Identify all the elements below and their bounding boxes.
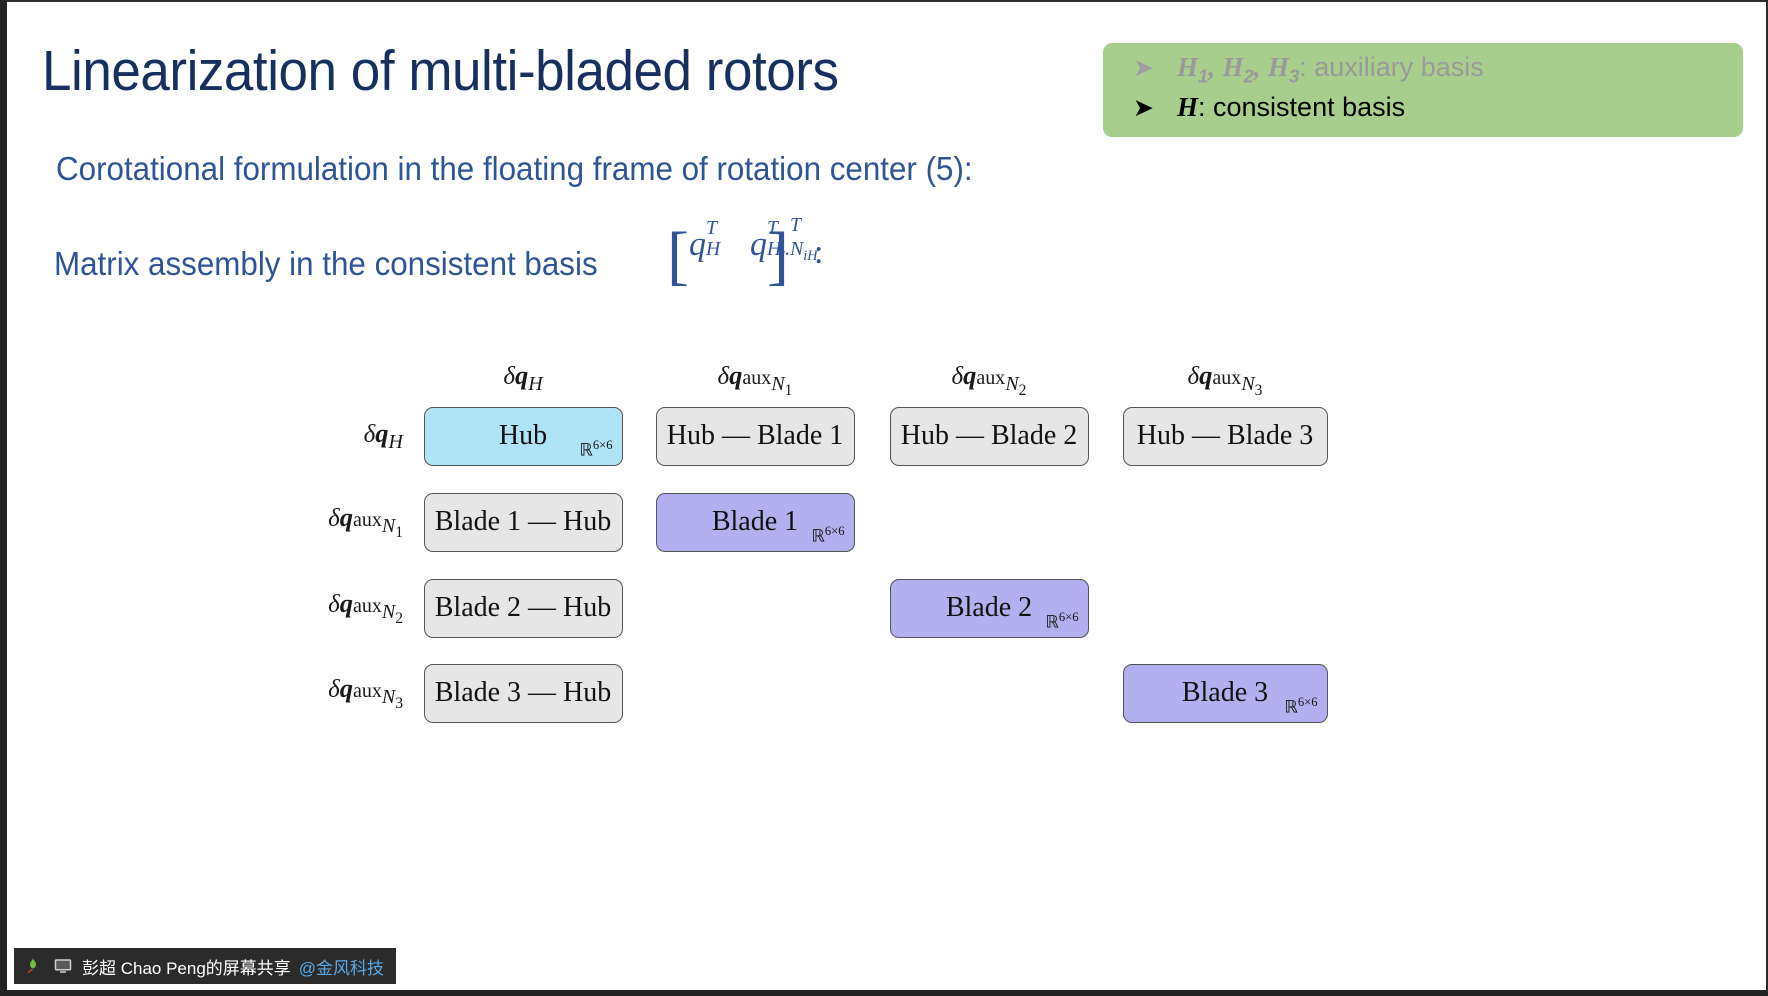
matrix-cell-r1-c1: Blade 1ℝ6×6 bbox=[656, 493, 855, 552]
matrix-cell-label: Blade 3 — Hub bbox=[435, 677, 612, 709]
matrix-column-header-1: δqauxN1 bbox=[718, 360, 793, 400]
matrix-row-header-3: δqauxN3 bbox=[328, 673, 403, 713]
matrix-column-header-3: δqauxN3 bbox=[1188, 360, 1263, 400]
matrix-row-header-1: δqauxN1 bbox=[328, 502, 403, 542]
matrix-cell-r3-c3: Blade 3ℝ6×6 bbox=[1123, 664, 1328, 723]
presentation-slide: Linearization of multi-bladed rotors ➤ H… bbox=[7, 2, 1766, 990]
matrix-cell-dimension-tag: ℝ6×6 bbox=[1284, 695, 1317, 718]
matrix-column-header-0: δqH bbox=[503, 360, 542, 396]
share-handle-label: @金风科技 bbox=[299, 954, 384, 979]
matrix-cell-r0-c2: Hub — Blade 2 bbox=[890, 407, 1089, 466]
matrix-cell-dimension-tag: ℝ6×6 bbox=[1045, 610, 1078, 633]
matrix-cell-label: Hub bbox=[499, 420, 547, 452]
matrix-cell-dimension-tag: ℝ6×6 bbox=[579, 438, 612, 461]
matrix-cell-label: Hub — Blade 1 bbox=[667, 420, 844, 452]
matrix-cell-r2-c0: Blade 2 — Hub bbox=[424, 579, 623, 638]
matrix-cell-label: Hub — Blade 2 bbox=[901, 420, 1078, 452]
block-matrix-diagram: δqHδqauxN1δqauxN2δqauxN3δqHδqauxN1δqauxN… bbox=[7, 2, 1766, 990]
matrix-cell-label: Blade 1 bbox=[712, 506, 798, 538]
matrix-row-header-2: δqauxN2 bbox=[328, 588, 403, 628]
share-presenter-label: 彭超 Chao Peng的屏幕共享 bbox=[82, 954, 291, 979]
matrix-cell-r2-c2: Blade 2ℝ6×6 bbox=[890, 579, 1089, 638]
screen-share-status-bar: 彭超 Chao Peng的屏幕共享 @金风科技 bbox=[14, 948, 396, 984]
matrix-cell-label: Blade 2 — Hub bbox=[435, 592, 612, 624]
matrix-cell-label: Hub — Blade 3 bbox=[1137, 420, 1314, 452]
matrix-cell-label: Blade 2 bbox=[946, 592, 1032, 624]
matrix-cell-r1-c0: Blade 1 — Hub bbox=[424, 493, 623, 552]
screen-share-icon bbox=[22, 955, 44, 977]
matrix-cell-r0-c0: Hubℝ6×6 bbox=[424, 407, 623, 466]
monitor-icon bbox=[52, 955, 74, 977]
slide-window-frame: Linearization of multi-bladed rotors ➤ H… bbox=[0, 0, 1768, 996]
matrix-cell-label: Blade 3 bbox=[1182, 677, 1268, 709]
matrix-cell-dimension-tag: ℝ6×6 bbox=[811, 524, 844, 547]
matrix-row-header-0: δqH bbox=[364, 418, 403, 454]
matrix-cell-label: Blade 1 — Hub bbox=[435, 506, 612, 538]
matrix-column-header-2: δqauxN2 bbox=[952, 360, 1027, 400]
matrix-cell-r0-c1: Hub — Blade 1 bbox=[656, 407, 855, 466]
matrix-cell-r3-c0: Blade 3 — Hub bbox=[424, 664, 623, 723]
matrix-cell-r0-c3: Hub — Blade 3 bbox=[1123, 407, 1328, 466]
